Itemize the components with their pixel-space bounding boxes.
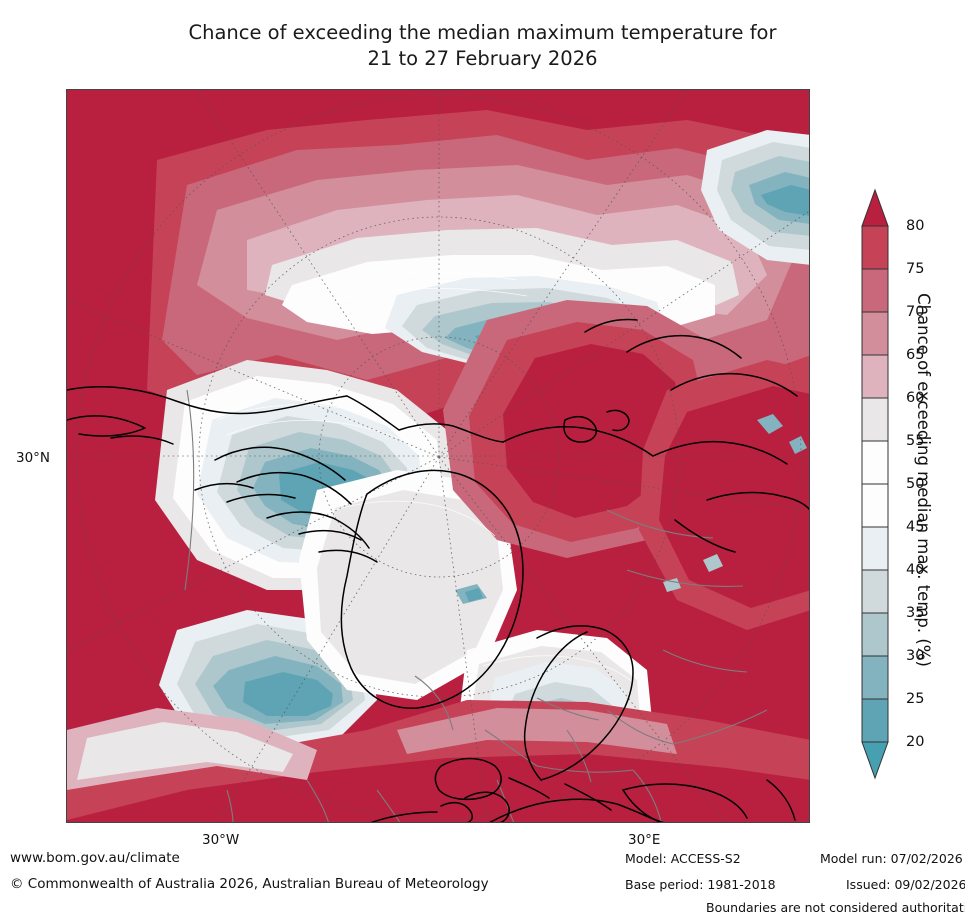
map-plot-area — [66, 89, 810, 823]
footer-boundaries-note: Boundaries are not considered authoritat… — [706, 900, 965, 915]
title-line-2: 21 to 27 February 2026 — [0, 46, 965, 72]
axis-label-lon-30e: 30°E — [628, 832, 660, 848]
map-contour-field — [67, 90, 810, 823]
axis-label-lon-30w: 30°W — [202, 832, 239, 848]
colorbar-swatches — [856, 186, 902, 786]
footer-copyright: © Commonwealth of Australia 2026, Austra… — [10, 876, 489, 892]
title-line-1: Chance of exceeding the median maximum t… — [188, 21, 776, 44]
footer-issued: Issued: 09/02/2026 — [846, 877, 965, 892]
axis-label-lat-30n: 30°N — [16, 450, 50, 466]
footer-model: Model: ACCESS-S2 — [625, 851, 741, 866]
colorbar-axis-label: Chance of exceeding median max. temp. (%… — [906, 180, 940, 780]
page-title: Chance of exceeding the median maximum t… — [0, 20, 965, 72]
footer-base-period: Base period: 1981-2018 — [625, 877, 776, 892]
footer-model-run: Model run: 07/02/2026 — [820, 851, 963, 866]
footer-website-url[interactable]: www.bom.gov.au/climate — [10, 850, 180, 866]
